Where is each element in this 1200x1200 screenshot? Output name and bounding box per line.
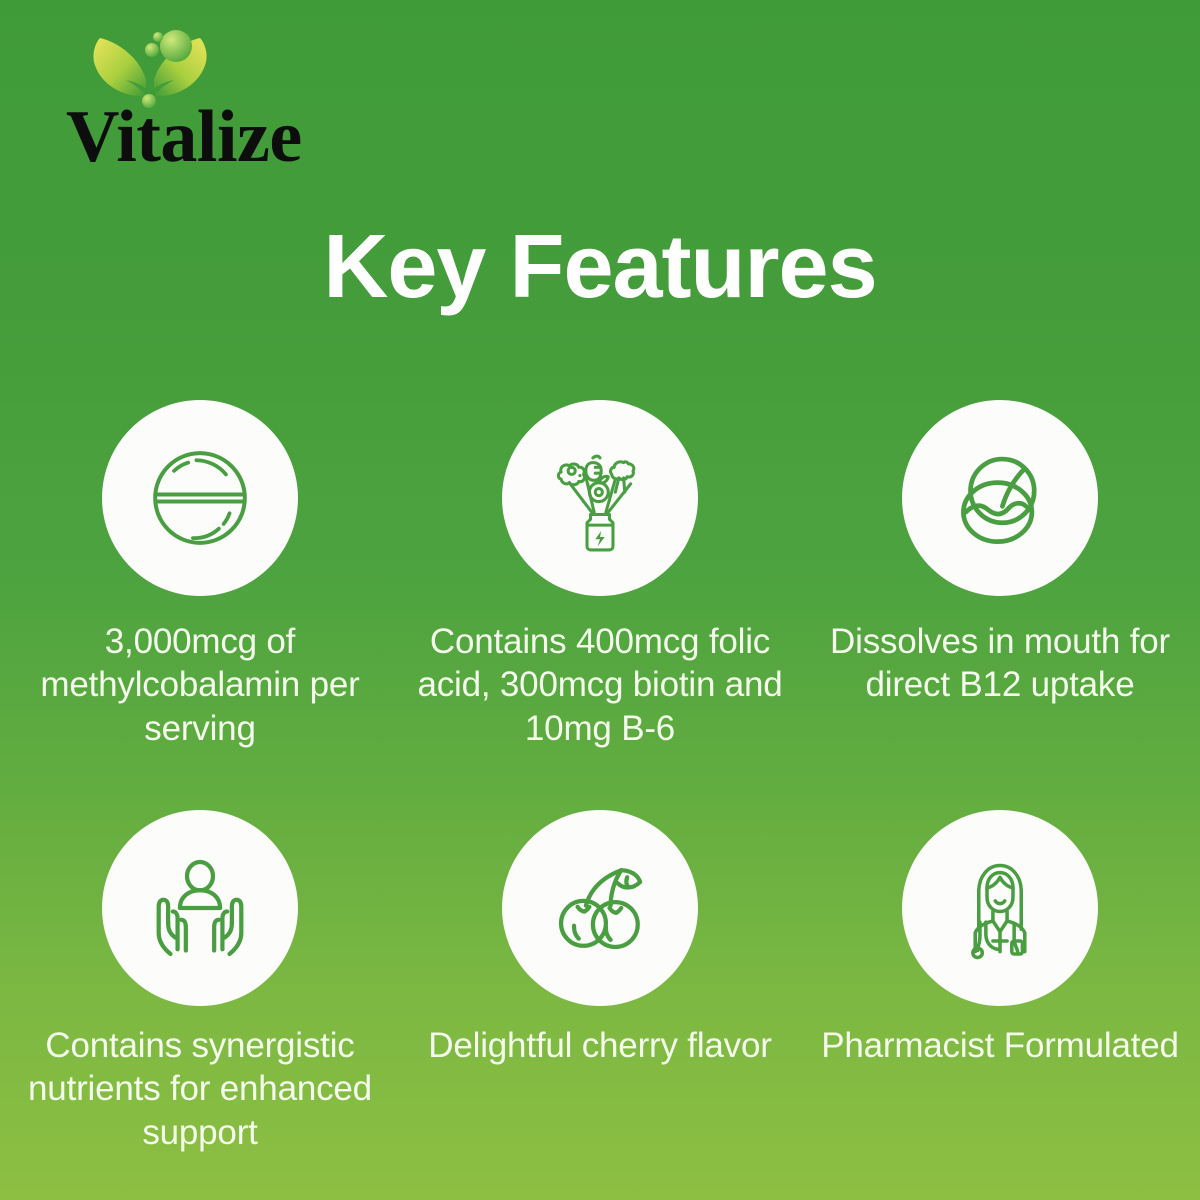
feature-caption: Contains synergistic nutrients for enhan… <box>4 1024 396 1154</box>
feature-item: Contains 400mcg folic acid, 300mcg bioti… <box>400 400 800 810</box>
vitamins-bottle-icon <box>502 400 698 596</box>
feature-caption: Dissolves in mouth for direct B12 uptake <box>804 620 1196 707</box>
feature-caption: Delightful cherry flavor <box>428 1024 771 1067</box>
feature-item: Contains synergistic nutrients for enhan… <box>0 810 400 1200</box>
feature-item: Pharmacist Formulated <box>800 810 1200 1200</box>
cherries-icon <box>502 810 698 1006</box>
brand-logo: Vitalize <box>66 28 406 178</box>
features-grid: 3,000mcg of methylcobalamin per serving <box>0 400 1200 1200</box>
hands-holding-person-icon <box>102 810 298 1006</box>
feature-item: 3,000mcg of methylcobalamin per serving <box>0 400 400 810</box>
pharmacist-icon <box>902 810 1098 1006</box>
feature-caption: 3,000mcg of methylcobalamin per serving <box>4 620 396 750</box>
brand-name: Vitalize <box>66 100 302 174</box>
feature-item: Dissolves in mouth for direct B12 uptake <box>800 400 1200 810</box>
feature-item: Delightful cherry flavor <box>400 810 800 1200</box>
key-features-poster: Vitalize Key Features 3,000mcg of methyl… <box>0 0 1200 1200</box>
mouth-tongue-icon <box>902 400 1098 596</box>
tablet-pill-icon <box>102 400 298 596</box>
feature-caption: Pharmacist Formulated <box>821 1024 1179 1067</box>
feature-caption: Contains 400mcg folic acid, 300mcg bioti… <box>404 620 796 750</box>
page-title: Key Features <box>0 220 1200 315</box>
